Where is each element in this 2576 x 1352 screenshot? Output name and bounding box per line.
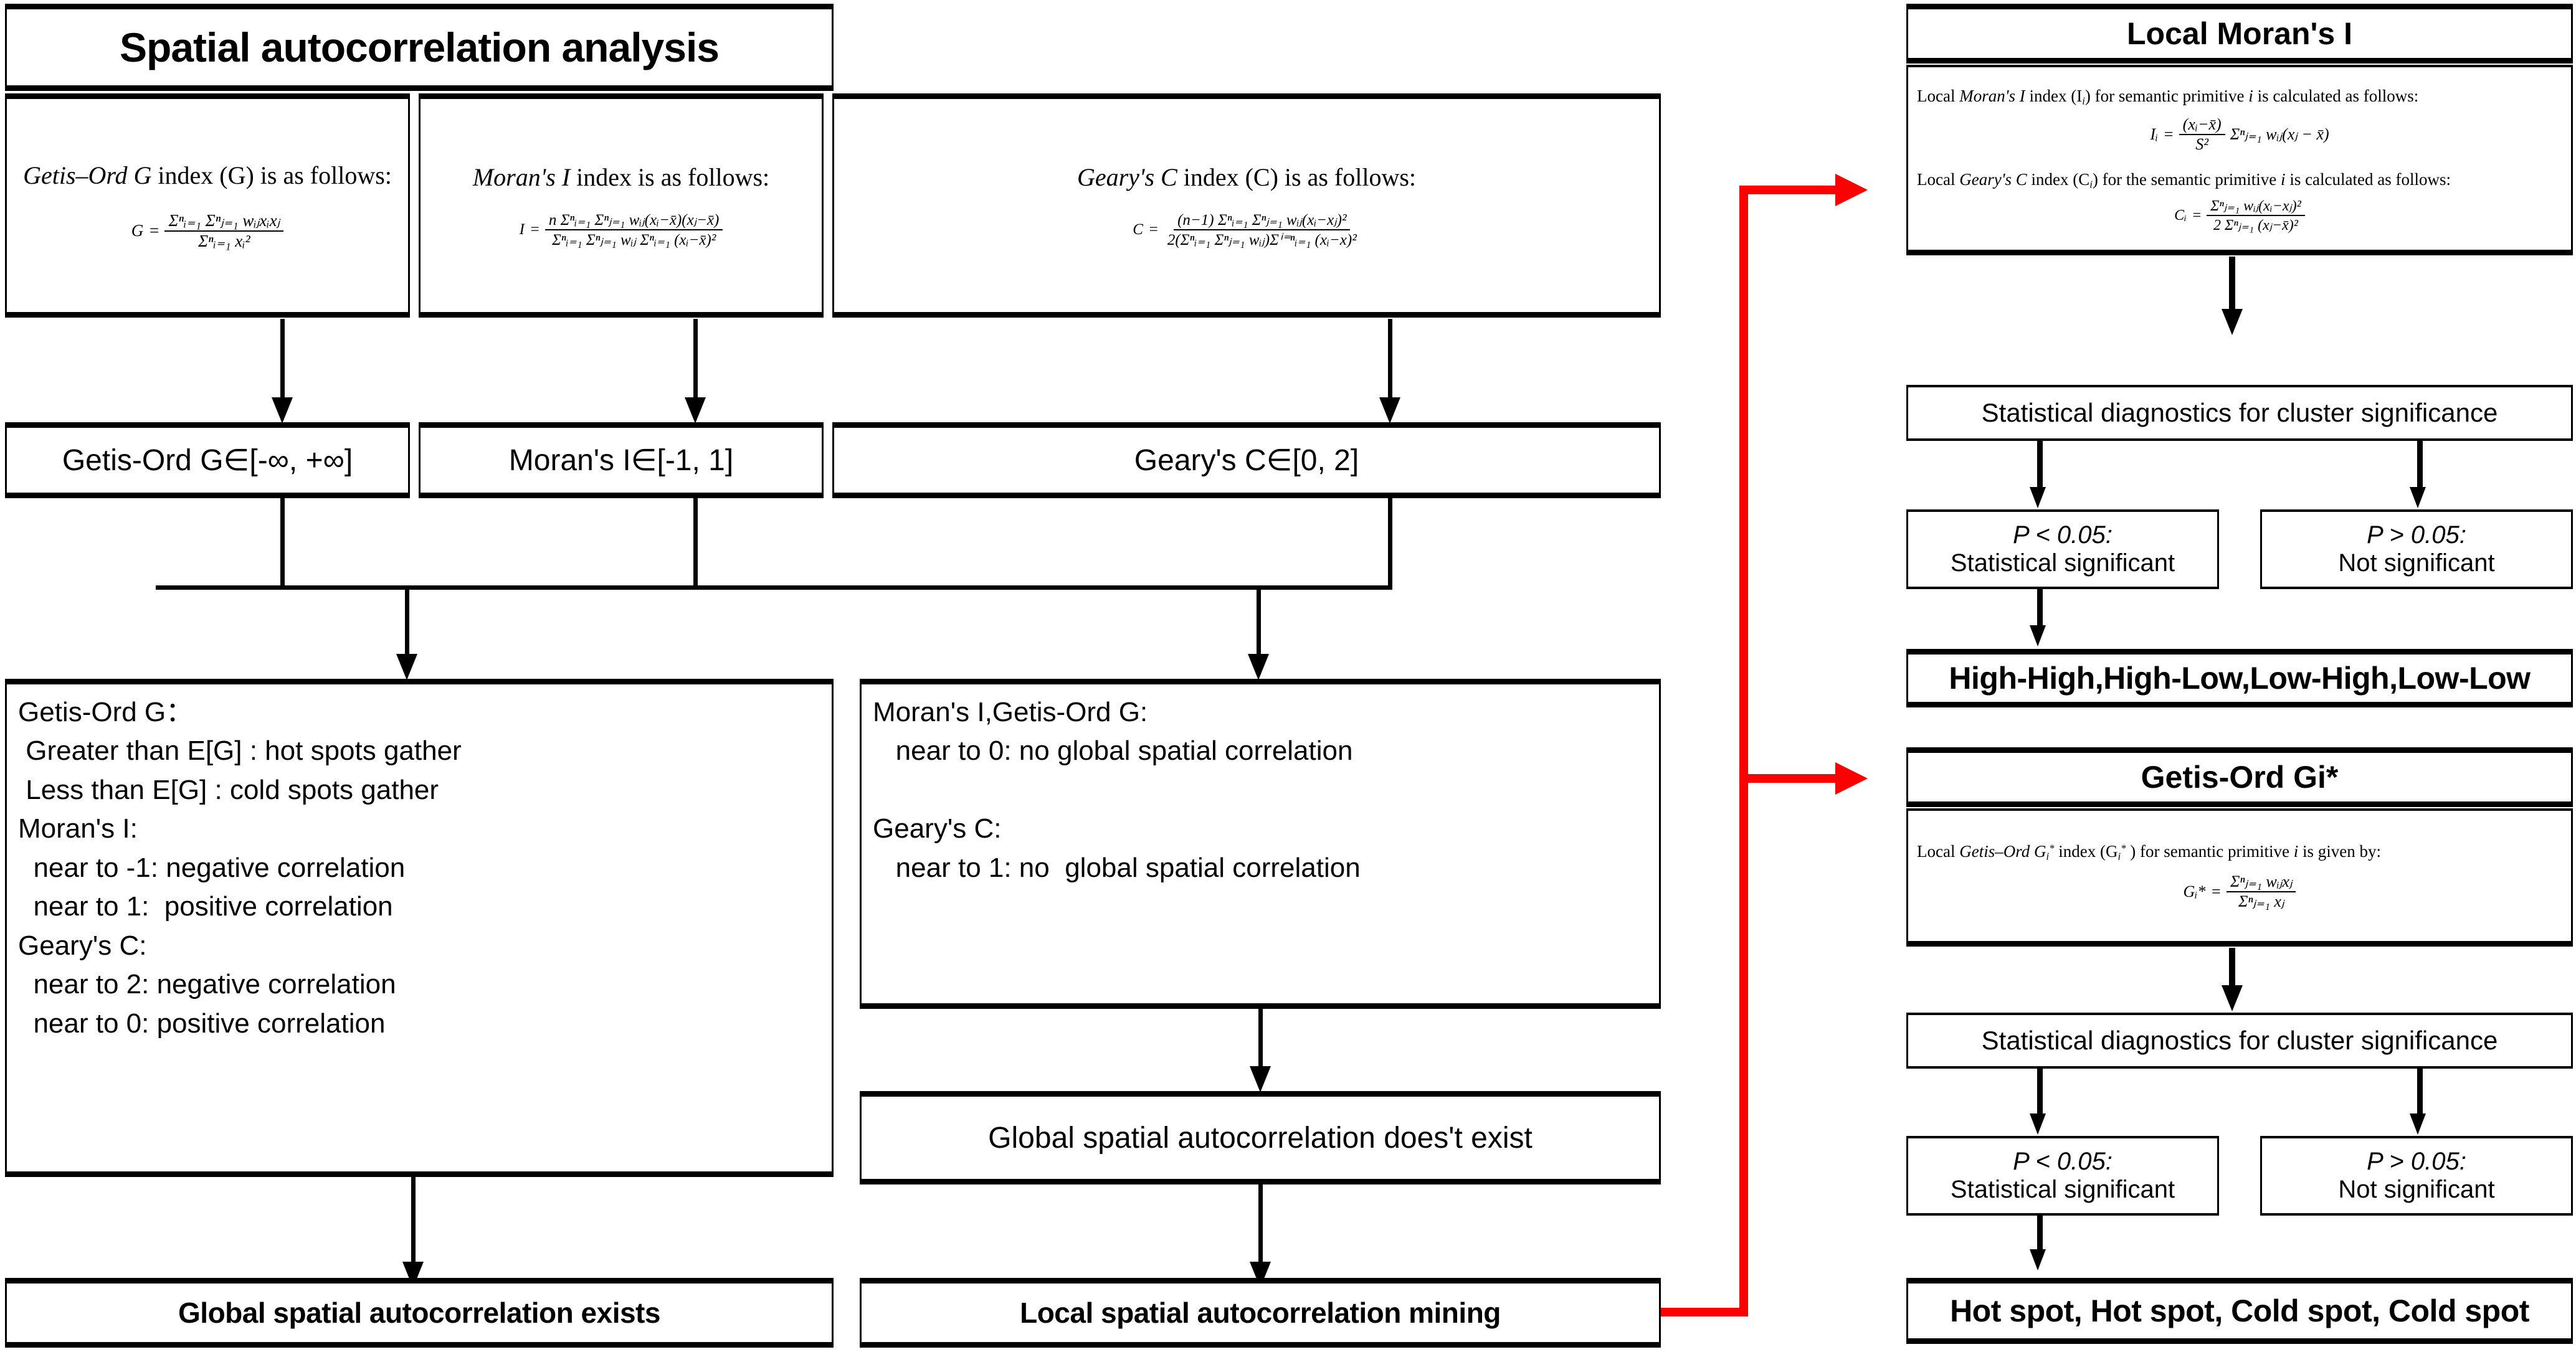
getis-p-not-significant-result: Not significant	[2262, 1176, 2571, 1204]
getis-outcome-box: Hot spot, Hot spot, Cold spot, Cold spot	[1906, 1278, 2573, 1344]
formula-getis-ord-g: G= Σⁿᵢ₌₁ Σⁿⱼ₌₁ wᵢⱼxᵢxⱼ Σⁿᵢ₌₁ xᵢ²	[7, 211, 408, 251]
getis-p-significant-result: Statistical significant	[1908, 1176, 2217, 1204]
formula-card-getis-ord-g: Getis–Ord G index (G) is as follows: G= …	[5, 93, 410, 318]
arrow-head-icon	[1250, 1066, 1271, 1092]
red-connector-horizontal	[1661, 1308, 1748, 1317]
moran-outcome-label: High-High,High-Low,Low-High,Low-Low	[1908, 660, 2571, 696]
formula-lhs: Iᵢ	[2150, 125, 2158, 144]
formula-card-gearys-c: Geary's C index (C) is as follows: C= (n…	[832, 93, 1661, 318]
getis-p-not-significant-box: P > 0.05: Not significant	[2260, 1136, 2573, 1216]
connector-line	[2417, 1069, 2423, 1120]
formula-denominator: Σⁿᵢ₌₁ xᵢ²	[194, 232, 254, 251]
formula-morans-i: I= n Σⁿᵢ₌₁ Σⁿⱼ₌₁ wᵢⱼ(xᵢ−x̄)(xⱼ−x̄) Σⁿᵢ₌₁…	[421, 210, 822, 249]
getis-p-significant-box: P < 0.05: Statistical significant	[1906, 1136, 2219, 1216]
formula-numerator: Σⁿⱼ₌₁ wᵢⱼ(xᵢ−xⱼ)²	[2207, 197, 2305, 216]
connector-line	[2037, 441, 2043, 493]
formula-numerator: Σⁿᵢ₌₁ Σⁿⱼ₌₁ wᵢⱼxᵢxⱼ	[164, 211, 283, 232]
formula-lhs: C	[1133, 221, 1143, 239]
arrow-head-icon	[2410, 1113, 2426, 1135]
formula-denominator: 2(Σⁿᵢ₌₁ Σⁿⱼ₌₁ wᵢⱼ)Σⁱ⁼ⁿᵢ₌₁ (xᵢ−x)²	[1164, 230, 1361, 249]
range-label: Getis-Ord G∈[-∞, +∞]	[7, 443, 408, 478]
arrow-head-icon	[2030, 1249, 2046, 1270]
heading-rest-part: index is as follows:	[570, 163, 769, 191]
range-box-morans-i: Moran's I∈[-1, 1]	[419, 422, 824, 498]
formula-card-morans-i: Moran's I index is as follows: I= n Σⁿᵢ₌…	[419, 93, 824, 318]
heading-italic-part: Getis–Ord G	[23, 161, 151, 189]
local-gearys-c-formula: Cᵢ= Σⁿⱼ₌₁ wᵢⱼ(xᵢ−xⱼ)² 2 Σⁿⱼ₌₁ (xⱼ−x̄)²	[1908, 197, 2571, 234]
red-branch-bottom	[1739, 774, 1839, 783]
global-not-exist-box: Global spatial autocorrelation does't ex…	[860, 1091, 1661, 1184]
connector-line	[693, 498, 698, 589]
local-gearys-c-description: Local Geary's C index (Ci) for the seman…	[1908, 170, 2571, 191]
no-global-correlation-text: Moran's I,Getis-Ord G: near to 0: no glo…	[873, 693, 1648, 887]
formula-lhs: Cᵢ	[2174, 207, 2187, 224]
connector-line	[1257, 585, 1261, 659]
connector-line	[2037, 589, 2043, 630]
arrow-head-icon	[2222, 309, 2243, 335]
getis-ord-gi-formula: Gᵢ*= Σⁿⱼ₌₁ wᵢⱼxⱼ Σⁿⱼ₌₁ xⱼ	[1908, 872, 2571, 911]
formula-gearys-c: C= (n−1) Σⁿᵢ₌₁ Σⁿⱼ₌₁ wᵢⱼ(xᵢ−xⱼ)² 2(Σⁿᵢ₌₁…	[834, 210, 1659, 249]
flowchart-canvas: Spatial autocorrelation analysis Getis–O…	[0, 0, 2576, 1352]
connector-line	[1258, 1184, 1263, 1270]
connector-line	[1258, 1009, 1263, 1071]
arrow-head-icon	[272, 397, 293, 423]
interpretation-box: Getis-Ord G： Greater than E[G] : hot spo…	[5, 679, 834, 1177]
connector-line	[1388, 498, 1392, 589]
range-label: Geary's C∈[0, 2]	[834, 443, 1659, 478]
connector-join-bar	[156, 585, 1392, 590]
getis-ord-gi-title-box: Getis-Ord Gi*	[1906, 747, 2573, 807]
moran-p-not-significant-condition: P > 0.05:	[2262, 521, 2571, 549]
connector-line	[2229, 257, 2235, 314]
getis-ord-gi-formula-box: Local Getis–Ord Gi* index (Gi* ) for sem…	[1906, 808, 2573, 947]
formula-denominator: 2 Σⁿⱼ₌₁ (xⱼ−x̄)²	[2210, 216, 2302, 234]
main-title-box: Spatial autocorrelation analysis	[5, 4, 834, 91]
formula-numerator: Σⁿⱼ₌₁ wᵢⱼxⱼ	[2227, 872, 2296, 892]
range-box-getis-ord-g: Getis-Ord G∈[-∞, +∞]	[5, 422, 410, 498]
red-branch-top	[1739, 186, 1839, 194]
connector-line	[2229, 948, 2235, 990]
formula-card-heading: Moran's I index is as follows:	[421, 163, 822, 192]
moran-p-significant-condition: P < 0.05:	[1908, 521, 2217, 549]
heading-italic-part: Moran's I	[473, 163, 570, 191]
connector-line	[280, 319, 285, 401]
outcome-global-exists-box: Global spatial autocorrelation exists	[5, 1278, 834, 1348]
formula-numerator: n Σⁿᵢ₌₁ Σⁿⱼ₌₁ wᵢⱼ(xᵢ−x̄)(xⱼ−x̄)	[545, 210, 723, 230]
getis-diagnostics-label: Statistical diagnostics for cluster sign…	[1908, 1026, 2571, 1056]
getis-p-significant-condition: P < 0.05:	[1908, 1148, 2217, 1176]
arrow-head-icon	[2410, 487, 2426, 508]
arrow-head-icon	[396, 654, 417, 680]
formula-tail: Σⁿⱼ₌₁ wᵢⱼ(xⱼ − x̄)	[2230, 125, 2329, 144]
range-box-gearys-c: Geary's C∈[0, 2]	[832, 422, 1661, 498]
arrow-head-icon	[2030, 1113, 2046, 1135]
arrow-head-icon	[2030, 487, 2046, 508]
arrow-head-icon	[1248, 654, 1269, 680]
formula-denominator: Σⁿᵢ₌₁ Σⁿⱼ₌₁ wᵢⱼ Σⁿᵢ₌₁ (xᵢ−x̄)²	[548, 230, 720, 249]
connector-line	[1388, 319, 1392, 401]
arrow-head-icon	[685, 397, 706, 423]
formula-denominator: S²	[2192, 135, 2212, 154]
global-not-exist-text: Global spatial autocorrelation does't ex…	[862, 1121, 1659, 1155]
getis-outcome-label: Hot spot, Hot spot, Cold spot, Cold spot	[1908, 1293, 2571, 1329]
outcome-global-exists-label: Global spatial autocorrelation exists	[7, 1296, 832, 1330]
formula-card-heading: Geary's C index (C) is as follows:	[834, 163, 1659, 192]
connector-line	[280, 498, 285, 589]
moran-p-not-significant-result: Not significant	[2262, 549, 2571, 577]
range-label: Moran's I∈[-1, 1]	[421, 443, 822, 478]
getis-ord-gi-title: Getis-Ord Gi*	[1908, 759, 2571, 795]
local-morans-i-formula: Iᵢ= (xᵢ−x̄) S² Σⁿⱼ₌₁ wᵢⱼ(xⱼ − x̄)	[1908, 115, 2571, 154]
formula-denominator: Σⁿⱼ₌₁ xⱼ	[2235, 892, 2288, 911]
outcome-local-mining-box: Local spatial autocorrelation mining	[860, 1278, 1661, 1348]
red-arrow-head-icon	[1835, 174, 1868, 206]
getis-diagnostics-box: Statistical diagnostics for cluster sign…	[1906, 1013, 2573, 1069]
outcome-local-mining-label: Local spatial autocorrelation mining	[862, 1296, 1659, 1330]
moran-diagnostics-box: Statistical diagnostics for cluster sign…	[1906, 385, 2573, 441]
page-title: Spatial autocorrelation analysis	[7, 24, 832, 71]
moran-p-significant-result: Statistical significant	[1908, 549, 2217, 577]
formula-lhs: I	[520, 221, 525, 239]
local-morans-i-description: Local Moran's I index (Ii) for semantic …	[1908, 87, 2571, 108]
getis-p-not-significant-condition: P > 0.05:	[2262, 1148, 2571, 1176]
formula-numerator: (n−1) Σⁿᵢ₌₁ Σⁿⱼ₌₁ wᵢⱼ(xᵢ−xⱼ)²	[1174, 210, 1350, 230]
formula-numerator: (xᵢ−x̄)	[2179, 115, 2225, 135]
no-global-correlation-box: Moran's I,Getis-Ord G: near to 0: no glo…	[860, 679, 1661, 1009]
local-morans-i-formula-box: Local Moran's I index (Ii) for semantic …	[1906, 65, 2573, 255]
heading-rest-part: index (C) is as follows:	[1177, 163, 1416, 191]
moran-p-not-significant-box: P > 0.05: Not significant	[2260, 509, 2573, 589]
moran-diagnostics-label: Statistical diagnostics for cluster sign…	[1908, 398, 2571, 428]
formula-lhs: Gᵢ*	[2184, 882, 2206, 901]
moran-p-significant-box: P < 0.05: Statistical significant	[1906, 509, 2219, 589]
connector-line	[2037, 1069, 2043, 1120]
connector-line	[2037, 1216, 2043, 1254]
interpretation-text: Getis-Ord G： Greater than E[G] : hot spo…	[18, 693, 820, 1043]
connector-line	[405, 585, 409, 659]
local-morans-i-title-box: Local Moran's I	[1906, 4, 2573, 64]
arrow-head-icon	[2030, 625, 2046, 646]
formula-lhs: G	[131, 221, 144, 240]
moran-outcome-box: High-High,High-Low,Low-High,Low-Low	[1906, 649, 2573, 707]
arrow-head-icon	[2222, 985, 2243, 1011]
connector-line	[411, 1177, 416, 1270]
red-connector-vertical	[1739, 186, 1748, 1317]
arrow-head-icon	[1379, 397, 1400, 423]
getis-ord-gi-description: Local Getis–Ord Gi* index (Gi* ) for sem…	[1908, 842, 2571, 863]
heading-rest-part: index (G) is as follows:	[151, 161, 392, 189]
formula-card-heading: Getis–Ord G index (G) is as follows:	[7, 161, 408, 190]
connector-line	[693, 319, 698, 401]
red-arrow-head-icon	[1835, 762, 1868, 795]
heading-italic-part: Geary's C	[1077, 163, 1177, 191]
local-morans-i-title: Local Moran's I	[1908, 16, 2571, 52]
connector-line	[2417, 441, 2423, 493]
